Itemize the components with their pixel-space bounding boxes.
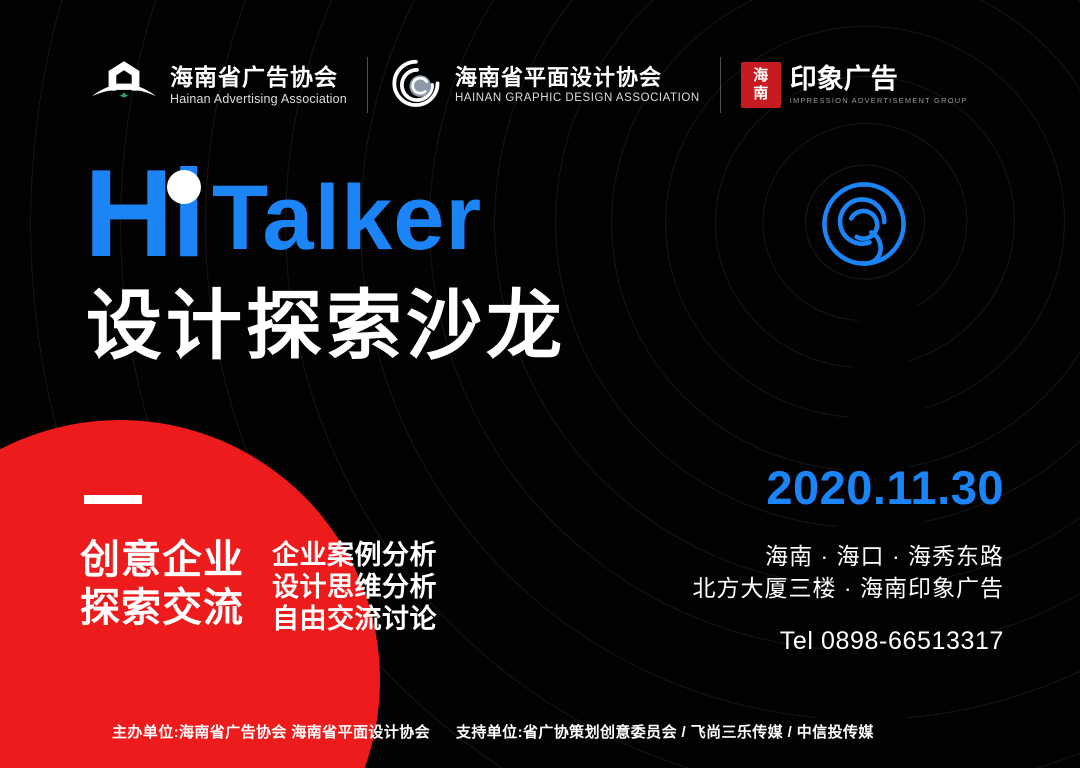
theme-bullet-item: 自由交流讨论 (272, 603, 437, 635)
headline-talker: Talker (212, 166, 482, 270)
hi-dot-icon (167, 170, 201, 204)
logo-divider (720, 57, 721, 113)
arch-bridge-icon (88, 50, 160, 120)
logo-hnaa-text: 海南省广告协会 Hainan Advertising Association (170, 64, 347, 107)
poster-canvas: 海南省广告协会 Hainan Advertising Association 海… (0, 0, 1080, 768)
spiral-circle-icon (390, 58, 444, 112)
headline-block: Hi Talker 设计探索沙龙 (84, 158, 566, 370)
footer-organizers: 主办单位:海南省广告协会 海南省平面设计协会 (112, 723, 430, 743)
event-venue: 海南 · 海口 · 海秀东路 北方大厦三楼 · 海南印象广告 (693, 540, 1004, 604)
event-venue-line1: 海南 · 海口 · 海秀东路 (693, 540, 1004, 572)
logo-impression-text: 印象广告 IMPRESSION ADVERTISEMENT GROUP (790, 64, 968, 106)
logo-hgda-en: HAINAN GRAPHIC DESIGN ASSOCIATION (455, 91, 700, 106)
event-telephone: Tel 0898-66513317 (693, 626, 1004, 656)
event-info-block: 2020.11.30 海南 · 海口 · 海秀东路 北方大厦三楼 · 海南印象广… (693, 460, 1004, 656)
headline-subtitle: 设计探索沙龙 (86, 284, 566, 370)
logo-hnaa-en: Hainan Advertising Association (170, 91, 347, 107)
headline-hi-text: Hi (84, 145, 204, 283)
logo-impression-cn: 印象广告 (790, 64, 968, 95)
logo-impression-advertisement-group: 海 南 印象广告 IMPRESSION ADVERTISEMENT GROUP (741, 62, 968, 108)
logo-hnaa-cn: 海南省广告协会 (170, 64, 347, 91)
footer-credits: 主办单位:海南省广告协会 海南省平面设计协会 支持单位:省广协策划创意委员会 /… (0, 723, 874, 743)
partner-logo-bar: 海南省广告协会 Hainan Advertising Association 海… (0, 44, 1080, 126)
theme-block: 创意企业 探索交流 企业案例分析 设计思维分析 自由交流讨论 (80, 536, 437, 635)
logo-hgda-text: 海南省平面设计协会 HAINAN GRAPHIC DESIGN ASSOCIAT… (455, 65, 700, 106)
headline-hi: Hi (84, 158, 204, 270)
red-seal-icon: 海 南 (741, 62, 781, 108)
footer-bar: 主办单位:海南省广告协会 海南省平面设计协会 支持单位:省广协策划创意委员会 /… (0, 698, 1080, 768)
theme-bullet-item: 设计思维分析 (272, 571, 437, 603)
theme-title: 创意企业 探索交流 (80, 536, 244, 632)
theme-title-line2: 探索交流 (80, 584, 244, 632)
seal-char-2: 南 (753, 85, 768, 103)
logo-hainan-advertising-association: 海南省广告协会 Hainan Advertising Association (88, 50, 347, 120)
theme-rule (84, 495, 142, 504)
blue-spiral-icon (818, 178, 910, 270)
logo-hainan-graphic-design-association: 海南省平面设计协会 HAINAN GRAPHIC DESIGN ASSOCIAT… (390, 58, 700, 112)
theme-bullet-item: 企业案例分析 (272, 539, 437, 571)
headline-latin-line: Hi Talker (84, 158, 566, 270)
theme-title-line1: 创意企业 (80, 536, 244, 584)
logo-hgda-cn: 海南省平面设计协会 (455, 65, 700, 91)
footer-supporters: 支持单位:省广协策划创意委员会 / 飞尚三乐传媒 / 中信投传媒 (456, 723, 874, 743)
event-venue-line2: 北方大厦三楼 · 海南印象广告 (693, 572, 1004, 604)
event-date: 2020.11.30 (693, 460, 1004, 516)
logo-divider (367, 57, 368, 113)
theme-bullets: 企业案例分析 设计思维分析 自由交流讨论 (272, 539, 437, 635)
seal-char-1: 海 (753, 67, 768, 85)
logo-impression-en: IMPRESSION ADVERTISEMENT GROUP (790, 95, 968, 106)
